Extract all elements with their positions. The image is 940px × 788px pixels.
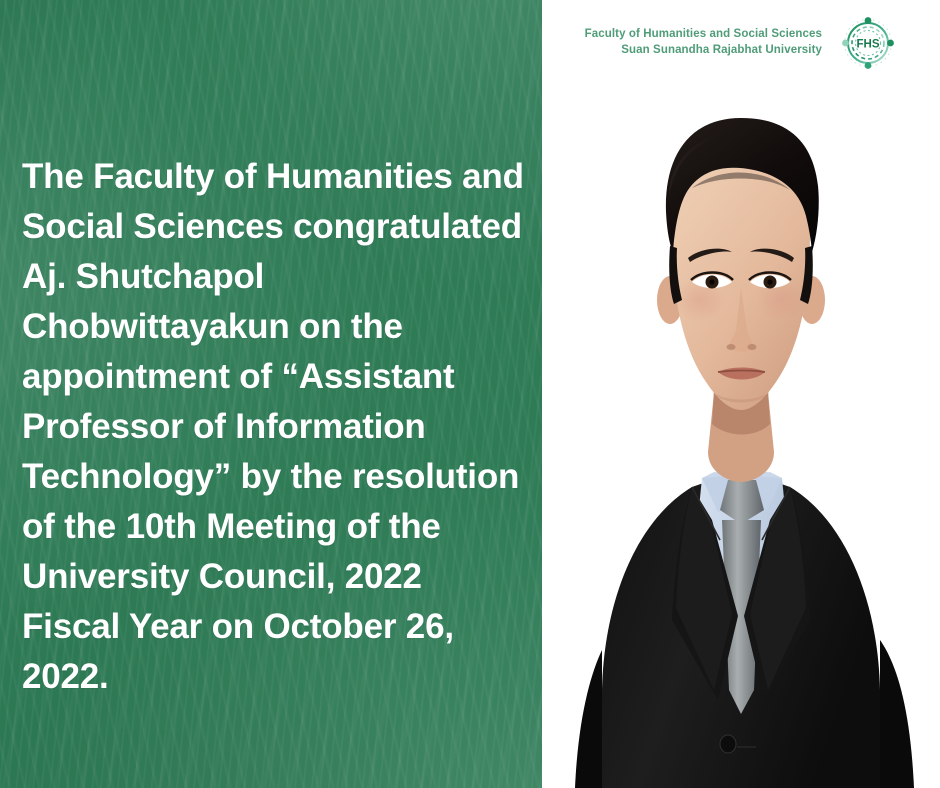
portrait-panel: Faculty of Humanities and Social Science… [542, 0, 940, 788]
fhs-logo-icon: FHS [839, 14, 897, 72]
portrait-photo [542, 0, 940, 788]
brand-line-faculty: Faculty of Humanities and Social Science… [585, 28, 822, 40]
announcement-headline: The Faculty of Humanities and Social Sci… [22, 152, 534, 702]
chalkboard-panel: The Faculty of Humanities and Social Sci… [0, 0, 542, 788]
announcement-poster: The Faculty of Humanities and Social Sci… [0, 0, 940, 788]
brand-line-university: Suan Sunandha Rajabhat University [550, 42, 822, 58]
brand-text: Faculty of Humanities and Social Science… [550, 26, 822, 58]
fhs-logo-text: FHS [857, 39, 880, 51]
